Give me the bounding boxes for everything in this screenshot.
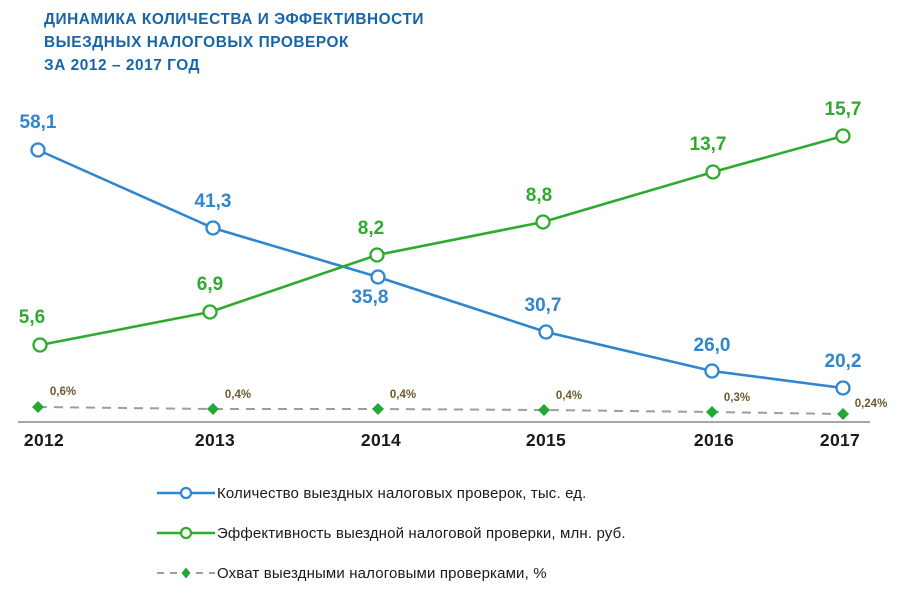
efficiency-data-label: 15,7: [825, 99, 862, 121]
efficiency-series-line: [40, 136, 843, 345]
coverage-data-label: 0,4%: [225, 389, 251, 401]
efficiency-data-label: 13,7: [690, 134, 727, 156]
chart-root: ДИНАМИКА КОЛИЧЕСТВА И ЭФФЕКТИВНОСТИ ВЫЕЗ…: [0, 0, 898, 590]
efficiency-data-point[interactable]: [204, 306, 217, 319]
efficiency-data-point[interactable]: [707, 166, 720, 179]
coverage-data-point[interactable]: [207, 403, 219, 415]
efficiency-data-label: 8,2: [358, 218, 384, 240]
efficiency-data-point[interactable]: [537, 216, 550, 229]
coverage-data-label: 0,4%: [390, 389, 416, 401]
plot-area: [0, 0, 898, 470]
efficiency-series-markers: [34, 130, 850, 352]
x-axis-tick-2012: 2012: [24, 430, 64, 451]
coverage-data-label: 0,6%: [50, 386, 76, 398]
legend-item-coverage[interactable]: Охват выездными налоговыми проверками, %: [155, 553, 875, 593]
efficiency-data-point[interactable]: [371, 249, 384, 262]
legend: Количество выездных налоговых проверок, …: [155, 473, 875, 593]
efficiency-data-label: 5,6: [19, 307, 45, 329]
x-axis-tick-2015: 2015: [526, 430, 566, 451]
efficiency-data-label: 6,9: [197, 274, 223, 296]
coverage-data-point[interactable]: [32, 401, 44, 413]
chart-svg: [0, 0, 898, 470]
coverage-data-point[interactable]: [538, 404, 550, 416]
coverage-data-point[interactable]: [372, 403, 384, 415]
legend-label-coverage: Охват выездными налоговыми проверками, %: [217, 565, 547, 582]
x-axis-tick-2013: 2013: [195, 430, 235, 451]
legend-label-count: Количество выездных налоговых проверок, …: [217, 485, 586, 502]
coverage-series-line: [38, 407, 843, 414]
x-axis-line: [18, 421, 870, 423]
line-circle-marker-blue-icon: [155, 485, 217, 501]
count-data-point[interactable]: [372, 271, 385, 284]
legend-item-efficiency[interactable]: Эффективность выездной налоговой проверк…: [155, 513, 875, 553]
efficiency-data-point[interactable]: [837, 130, 850, 143]
count-data-point[interactable]: [706, 365, 719, 378]
x-axis-tick-2017: 2017: [820, 430, 860, 451]
efficiency-data-point[interactable]: [34, 339, 47, 352]
count-data-label: 30,7: [525, 295, 562, 317]
coverage-data-label: 0,4%: [556, 390, 582, 402]
coverage-data-point[interactable]: [837, 408, 849, 420]
x-axis-tick-2014: 2014: [361, 430, 401, 451]
count-data-label: 58,1: [20, 112, 57, 134]
line-circle-marker-green-icon: [155, 525, 217, 541]
coverage-data-label: 0,3%: [724, 392, 750, 404]
coverage-data-label: 0,24%: [855, 398, 888, 410]
count-data-label: 35,8: [352, 287, 389, 309]
count-data-label: 26,0: [694, 335, 731, 357]
count-data-point[interactable]: [837, 382, 850, 395]
legend-label-efficiency: Эффективность выездной налоговой проверк…: [217, 525, 626, 542]
coverage-data-point[interactable]: [706, 406, 718, 418]
dashed-line-diamond-marker-green-icon: [155, 565, 217, 581]
legend-item-count[interactable]: Количество выездных налоговых проверок, …: [155, 473, 875, 513]
count-data-label: 20,2: [825, 351, 862, 373]
count-data-point[interactable]: [32, 144, 45, 157]
count-data-point[interactable]: [540, 326, 553, 339]
x-axis-tick-2016: 2016: [694, 430, 734, 451]
count-data-point[interactable]: [207, 222, 220, 235]
count-data-label: 41,3: [195, 191, 232, 213]
efficiency-data-label: 8,8: [526, 185, 552, 207]
